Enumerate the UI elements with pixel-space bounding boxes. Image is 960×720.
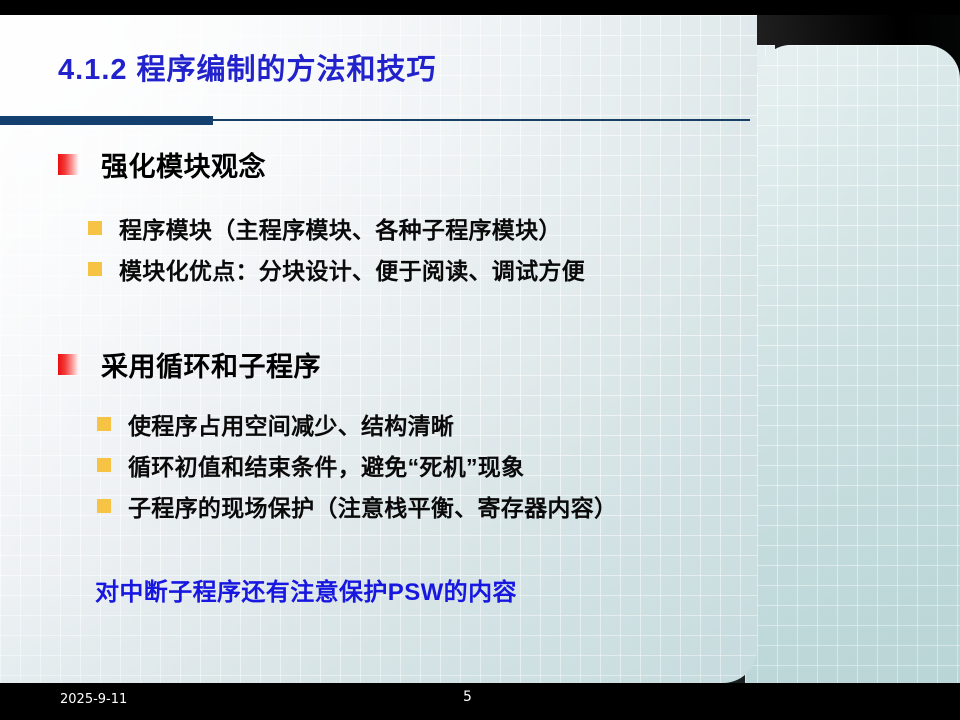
amber-square-bullet-icon (97, 458, 111, 472)
amber-square-bullet-icon (88, 262, 102, 276)
page-title: 4.1.2 程序编制的方法和技巧 (58, 46, 437, 88)
amber-square-bullet-icon (97, 417, 111, 431)
amber-square-bullet-icon (97, 499, 111, 513)
closing-note: 对中断子程序还有注意保护PSW的内容 (95, 572, 517, 607)
amber-square-bullet-icon (88, 221, 102, 235)
list-item: 程序模块（主程序模块、各种子程序模块） (88, 211, 562, 245)
red-square-bullet-icon (58, 354, 79, 375)
list-item-label: 使程序占用空间减少、结构清晰 (128, 407, 454, 441)
list-item: 模块化优点：分块设计、便于阅读、调试方便 (88, 252, 585, 286)
list-item: 使程序占用空间减少、结构清晰 (97, 407, 454, 441)
list-item-label: 循环初值和结束条件，避免“死机”现象 (128, 448, 524, 482)
section-heading-label: 采用循环和子程序 (101, 345, 321, 384)
slide-content: 4.1.2 程序编制的方法和技巧 强化模块观念 程序模块（主程序模块、各种子程序… (0, 0, 960, 720)
title-rule-thick (0, 116, 213, 125)
title-rule-thin (213, 119, 750, 121)
red-square-bullet-icon (58, 154, 79, 175)
section-heading-1: 强化模块观念 (58, 145, 266, 184)
list-item-label: 模块化优点：分块设计、便于阅读、调试方便 (119, 252, 585, 286)
list-item: 子程序的现场保护（注意栈平衡、寄存器内容） (97, 489, 617, 523)
slide-number: 5 (463, 689, 472, 705)
section-heading-2: 采用循环和子程序 (58, 345, 321, 384)
slide-canvas: 4.1.2 程序编制的方法和技巧 强化模块观念 程序模块（主程序模块、各种子程序… (0, 0, 960, 720)
slide-footer: 2025-9-11 5 (0, 683, 960, 720)
list-item: 循环初值和结束条件，避免“死机”现象 (97, 448, 524, 482)
footer-date: 2025-9-11 (60, 692, 127, 707)
list-item-label: 子程序的现场保护（注意栈平衡、寄存器内容） (128, 489, 617, 523)
list-item-label: 程序模块（主程序模块、各种子程序模块） (119, 211, 562, 245)
section-heading-label: 强化模块观念 (101, 145, 266, 184)
